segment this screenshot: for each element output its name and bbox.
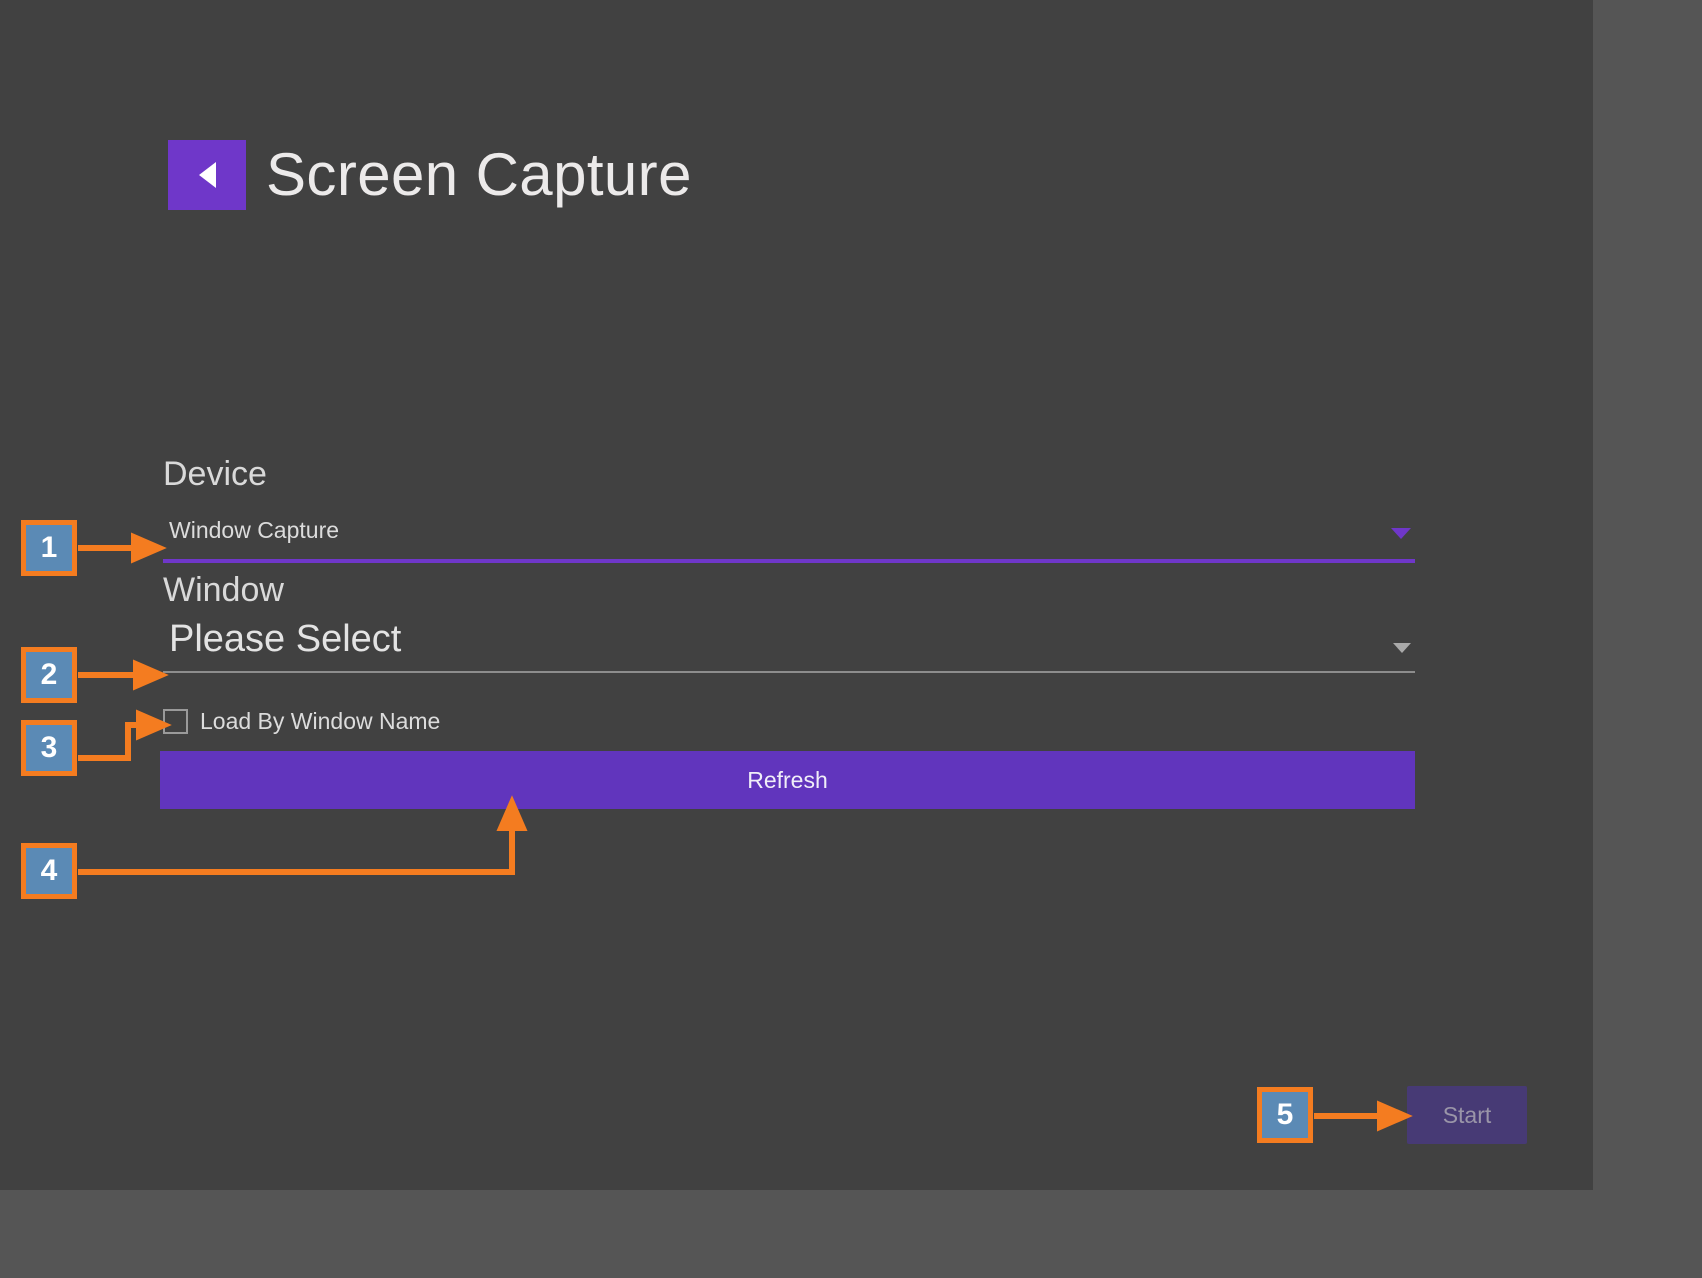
load-by-window-name-checkbox[interactable]: Load By Window Name xyxy=(163,709,440,734)
back-button[interactable] xyxy=(168,140,246,210)
screen-capture-window: Screen Capture Device Window Capture Win… xyxy=(0,0,1593,1190)
load-by-window-name-label: Load By Window Name xyxy=(200,710,440,733)
annotation-badge-3: 3 xyxy=(21,720,77,776)
page-title: Screen Capture xyxy=(266,145,692,205)
window-section-label: Window xyxy=(163,573,284,607)
annotation-badge-5: 5 xyxy=(1257,1087,1313,1143)
window-selected-value: Please Select xyxy=(169,620,401,658)
device-selected-value: Window Capture xyxy=(169,519,339,542)
annotation-badge-4: 4 xyxy=(21,843,77,899)
device-section-label: Device xyxy=(163,457,267,491)
annotation-badge-1: 1 xyxy=(21,520,77,576)
annotation-badge-2: 2 xyxy=(21,647,77,703)
device-dropdown[interactable]: Window Capture xyxy=(163,505,1415,563)
window-dropdown[interactable]: Please Select xyxy=(163,620,1415,673)
start-button[interactable]: Start xyxy=(1407,1086,1527,1144)
checkbox-unchecked-icon[interactable] xyxy=(163,709,188,734)
chevron-down-icon xyxy=(1393,643,1411,653)
page-header: Screen Capture xyxy=(168,140,692,210)
screenshot-root: Screen Capture Device Window Capture Win… xyxy=(0,0,1702,1278)
refresh-button[interactable]: Refresh xyxy=(160,751,1415,809)
chevron-down-icon xyxy=(1391,528,1411,539)
back-triangle-icon xyxy=(199,162,216,188)
